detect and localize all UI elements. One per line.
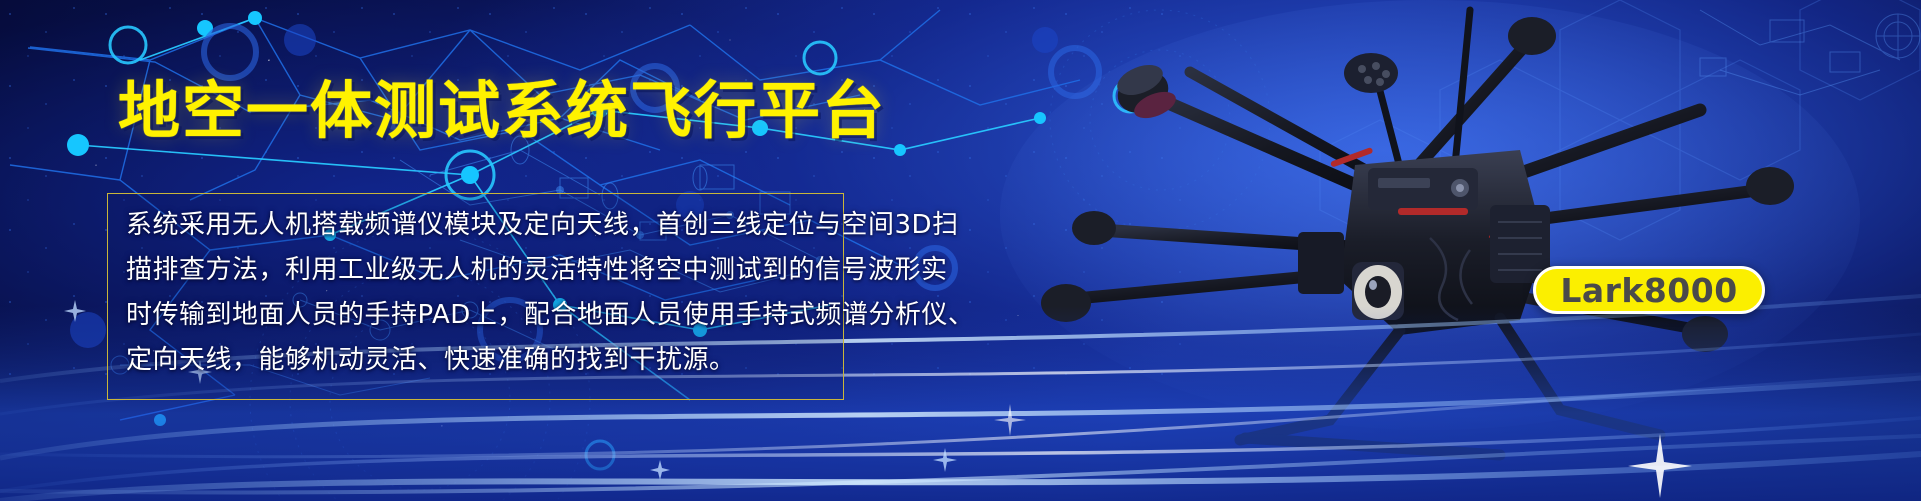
promo-banner: 地空一体测试系统飞行平台 系统采用无人机搭载频谱仪模块及定向天线，首创三线定位与… <box>0 0 1921 501</box>
product-badge-label: Lark8000 <box>1560 271 1737 310</box>
description-line: 描排查方法，利用工业级无人机的灵活特性将空中测试到的信号波形实 <box>126 248 829 293</box>
product-badge: Lark8000 <box>1533 266 1765 314</box>
page-title: 地空一体测试系统飞行平台 <box>118 78 886 145</box>
description-line: 定向天线，能够机动灵活、快速准确的找到干扰源。 <box>126 338 829 383</box>
description-line: 系统采用无人机搭载频谱仪模块及定向天线，首创三线定位与空间3D扫 <box>126 203 829 248</box>
description-line: 时传输到地面人员的手持PAD上，配合地面人员使用手持式频谱分析仪、 <box>126 293 829 338</box>
description-box: 系统采用无人机搭载频谱仪模块及定向天线，首创三线定位与空间3D扫 描排查方法，利… <box>107 193 844 400</box>
